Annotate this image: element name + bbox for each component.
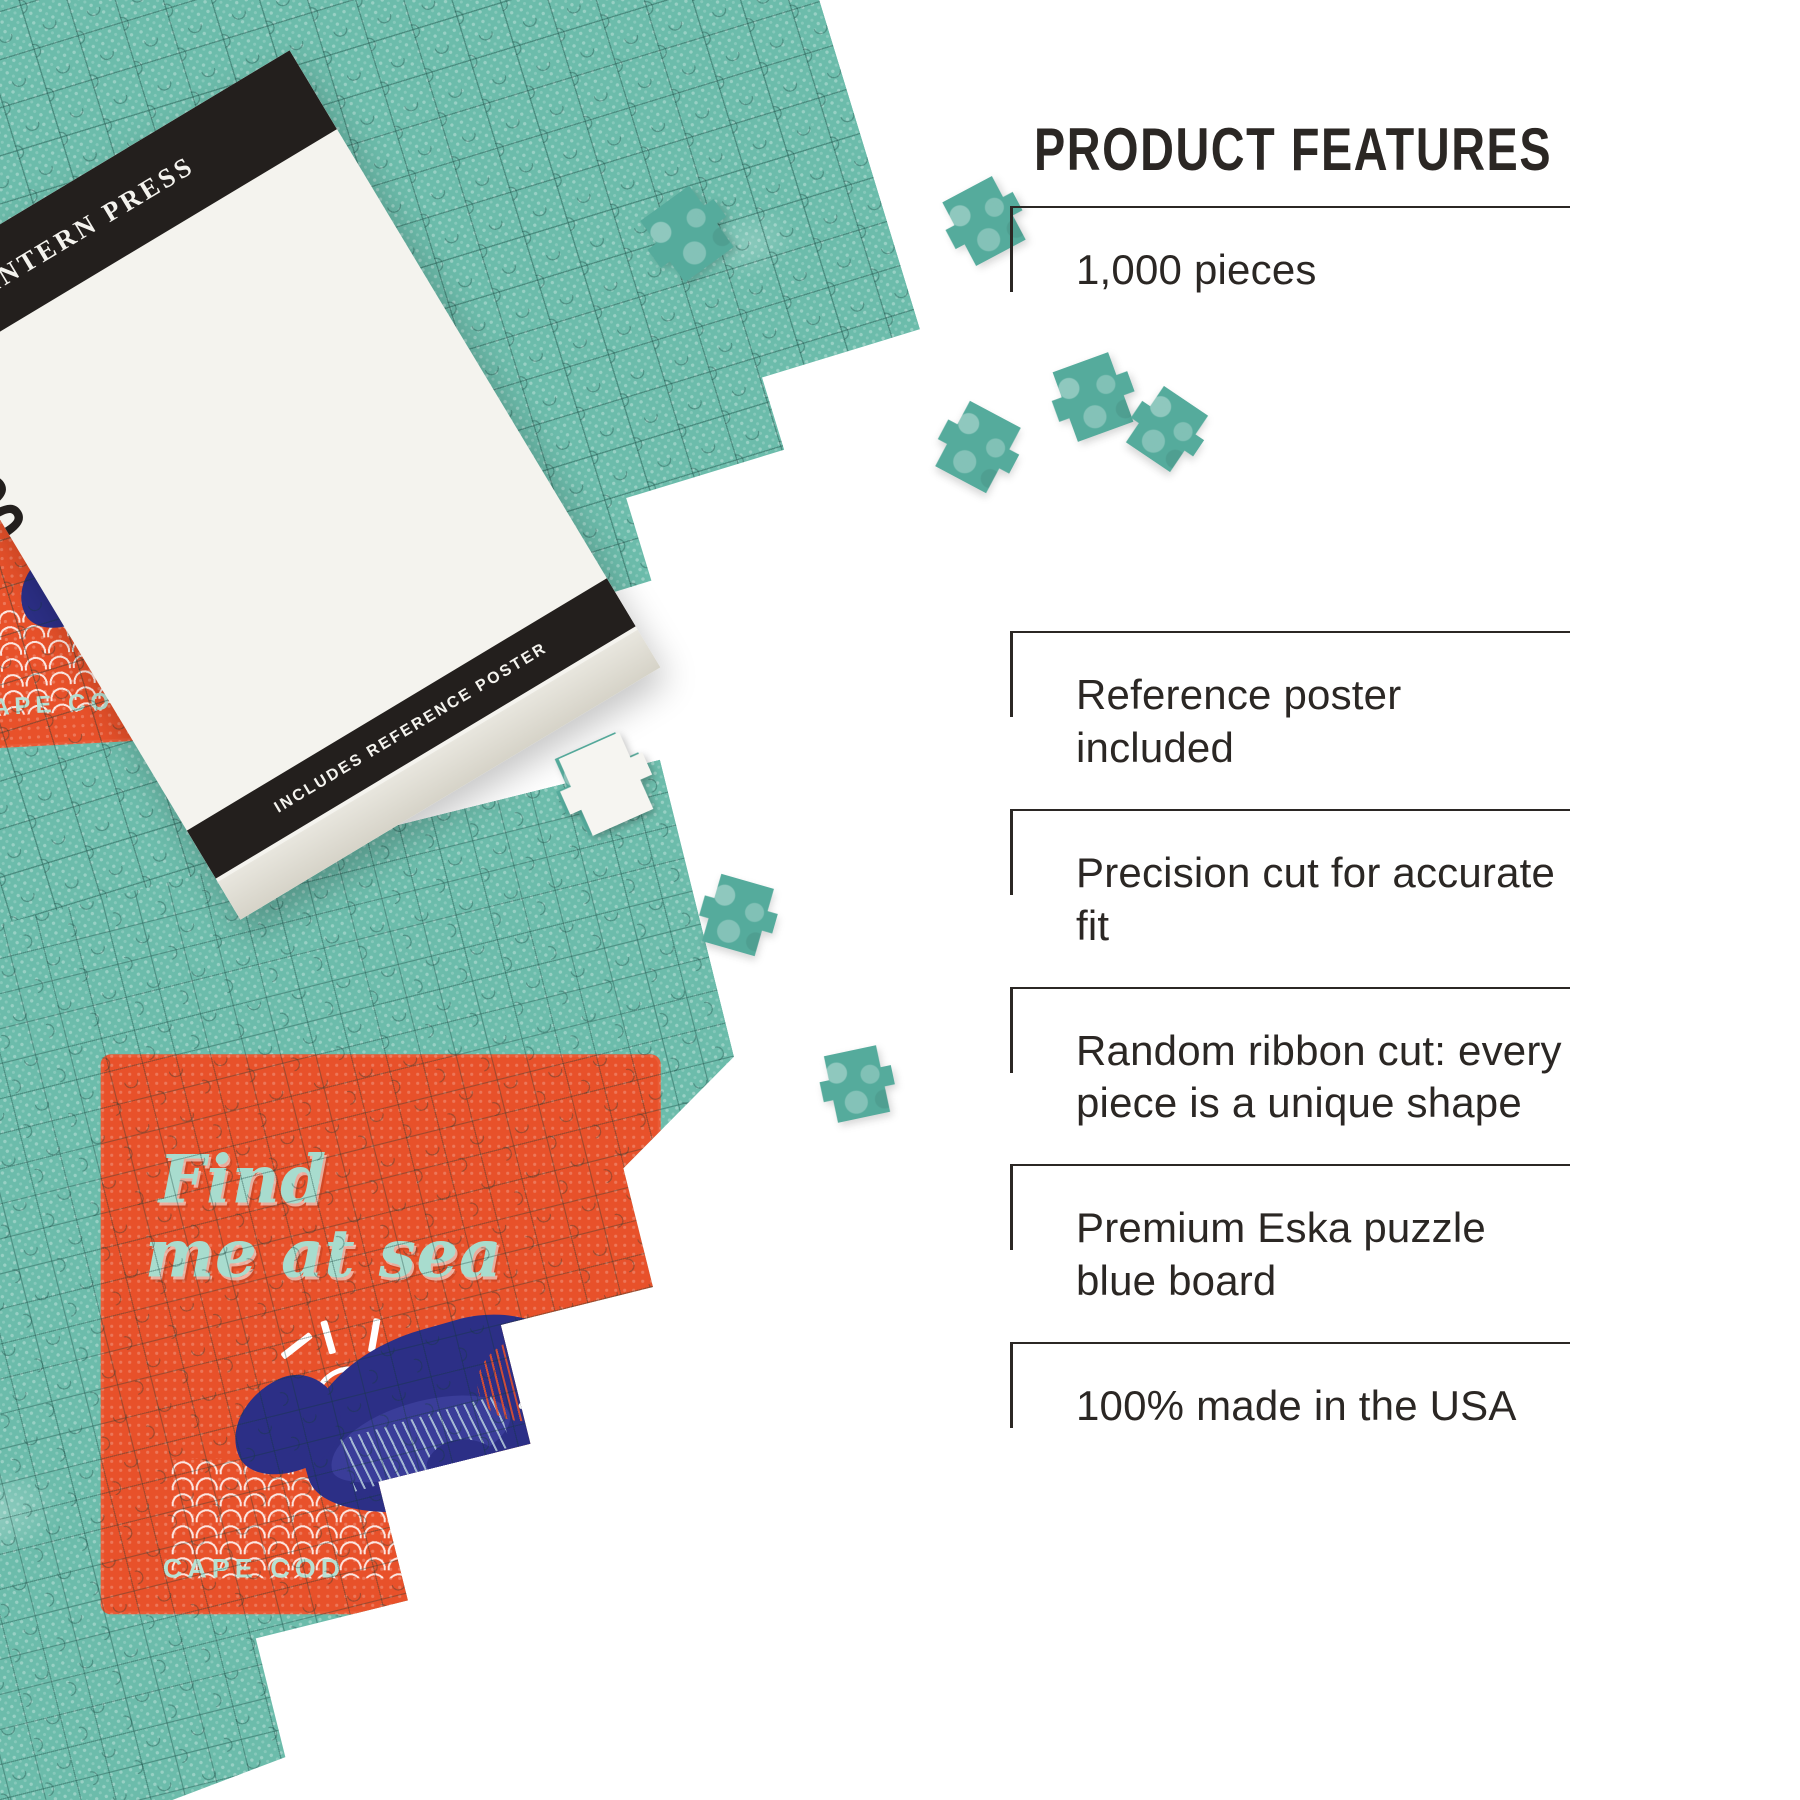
feature-row: 1,000 pieces — [1010, 206, 1570, 331]
feature-text: 1,000 pieces — [1076, 244, 1570, 297]
art-place-label-bottom: CAPE COD — [163, 1553, 346, 1584]
product-features-panel: PRODUCT FEATURES 1,000 pieces Reference … — [1010, 0, 1800, 1800]
feature-row: Reference poster included — [1010, 631, 1570, 809]
feature-text: Reference poster included — [1076, 669, 1570, 775]
feature-row: Precision cut for accurate fit — [1010, 809, 1570, 987]
whale-eye — [519, 1402, 526, 1409]
feature-text: Premium Eska puzzle blue board — [1076, 1202, 1570, 1308]
feature-row: Premium Eska puzzle blue board — [1010, 1164, 1570, 1342]
feature-text: Precision cut for accurate fit — [1076, 847, 1570, 953]
product-photo: Find me at sea CAPE COD MASSACH — [0, 0, 1010, 1800]
art-state-label-bottom: MASSACHUSETTS — [618, 1544, 649, 1614]
feature-list-gap — [1010, 331, 1570, 631]
puzzle-art-label-bottom: Find me at sea CAPE COD MASSACHUSETTS — [101, 1054, 661, 1614]
feature-list: 1,000 pieces Reference poster included P… — [1010, 206, 1570, 1467]
art-headline-line1-bottom: Find — [159, 1146, 327, 1212]
feature-text: Random ribbon cut: every piece is a uniq… — [1076, 1025, 1570, 1131]
feature-row: 100% made in the USA — [1010, 1342, 1570, 1467]
page-title: PRODUCT FEATURES — [1034, 120, 1552, 180]
art-headline-line2-bottom: me at sea — [145, 1220, 502, 1286]
whale-icon-bottom — [297, 1326, 597, 1506]
feature-text: 100% made in the USA — [1076, 1380, 1570, 1433]
feature-row: Random ribbon cut: every piece is a uniq… — [1010, 987, 1570, 1165]
